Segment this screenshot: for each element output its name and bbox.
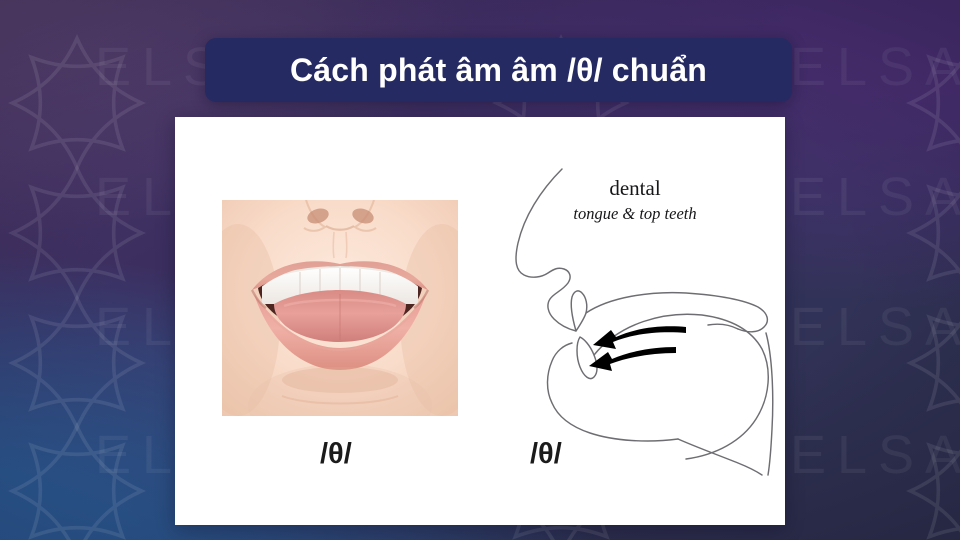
articulation-arrow-lower xyxy=(589,347,676,371)
mouth-tongue-between-teeth-photo xyxy=(222,200,458,416)
articulation-arrow-upper xyxy=(593,326,686,349)
page-title: Cách phát âm âm /θ/ chuẩn xyxy=(290,54,707,86)
slide-title-bar: Cách phát âm âm /θ/ chuẩn xyxy=(205,38,792,102)
phoneme-label-diagram: /θ/ xyxy=(530,440,562,469)
content-card: /θ/ dental tongue & top teeth xyxy=(175,117,785,525)
phoneme-label-photo: /θ/ xyxy=(320,440,352,469)
diagram-heading: dental xyxy=(609,176,660,200)
sagittal-vocal-tract-diagram: dental tongue & top teeth xyxy=(480,147,780,477)
diagram-subheading: tongue & top teeth xyxy=(573,204,696,223)
slide-canvas: ELSAELSAELSAELSAELSAELSAELSAELSA Cách ph… xyxy=(0,0,960,540)
mouth-photo-panel xyxy=(222,200,458,416)
